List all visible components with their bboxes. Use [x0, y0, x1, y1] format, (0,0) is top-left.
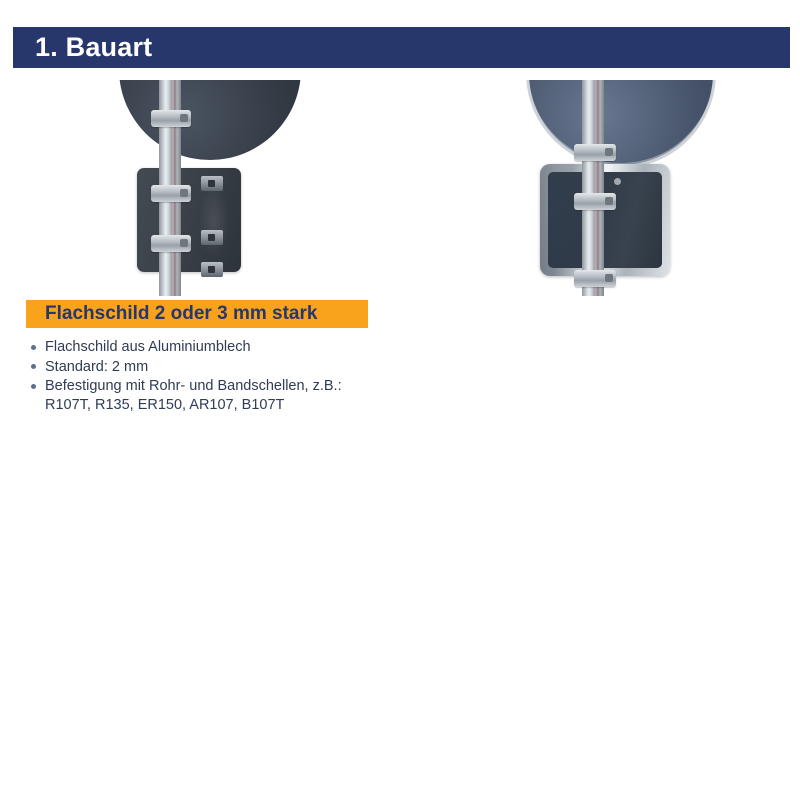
page-title: 1. Bauart [35, 31, 152, 62]
alform-clamp [574, 193, 616, 210]
alform-clamp [574, 270, 616, 287]
face-highlight [614, 178, 621, 185]
clamp-bolt [180, 239, 188, 247]
list-item: Flachschild aus Aluminiumblech [26, 338, 391, 357]
column-alformschild: Alformschild Aluminiumblech mit zusätzli… [432, 80, 800, 296]
bracket-bolt [208, 266, 215, 273]
bracket-bolt [208, 234, 215, 241]
list-item: Standard: 2 mm [26, 358, 391, 377]
round-sign [119, 80, 301, 160]
band-clamp [151, 235, 191, 252]
round-sign-rim [526, 80, 716, 168]
clamp-bolt [180, 189, 188, 197]
heading-flachschild: Flachschild 2 oder 3 mm stark [26, 300, 368, 328]
alform-clamp [574, 144, 616, 161]
flat-sign-plate [137, 168, 241, 272]
list-item-text: Standard: 2 mm [45, 359, 148, 375]
feature-list-flachschild: Flachschild aus Aluminiumblech Standard:… [26, 338, 391, 415]
mounting-bracket [201, 176, 223, 191]
alformschild-photo [432, 80, 800, 296]
band-clamp [151, 110, 191, 127]
bracket-bolt [208, 180, 215, 187]
clamp-bolt [180, 114, 188, 122]
flachschild-photo [13, 80, 385, 296]
heading-label: Flachschild 2 oder 3 mm stark [45, 303, 317, 325]
section-header-bar: 1. Bauart [13, 27, 790, 68]
list-item-text: Befestigung mit Rohr- und Bandschellen, … [45, 378, 342, 394]
clamp-bolt [605, 148, 613, 156]
column-flachschild: Flachschild 2 oder 3 mm stark Flachschil… [13, 80, 385, 296]
list-item-subtext: R107T, R135, ER150, AR107, B107T [45, 396, 391, 415]
steel-pole [582, 80, 604, 296]
band-clamp [151, 185, 191, 202]
list-item-text: Flachschild aus Aluminiumblech [45, 339, 251, 355]
mounting-bracket [201, 230, 223, 245]
plate-highlight [199, 184, 229, 258]
mounting-bracket [201, 262, 223, 277]
clamp-bolt [605, 274, 613, 282]
alform-framed-plate [540, 164, 670, 276]
list-item: Befestigung mit Rohr- und Bandschellen, … [26, 377, 391, 414]
clamp-bolt [605, 197, 613, 205]
